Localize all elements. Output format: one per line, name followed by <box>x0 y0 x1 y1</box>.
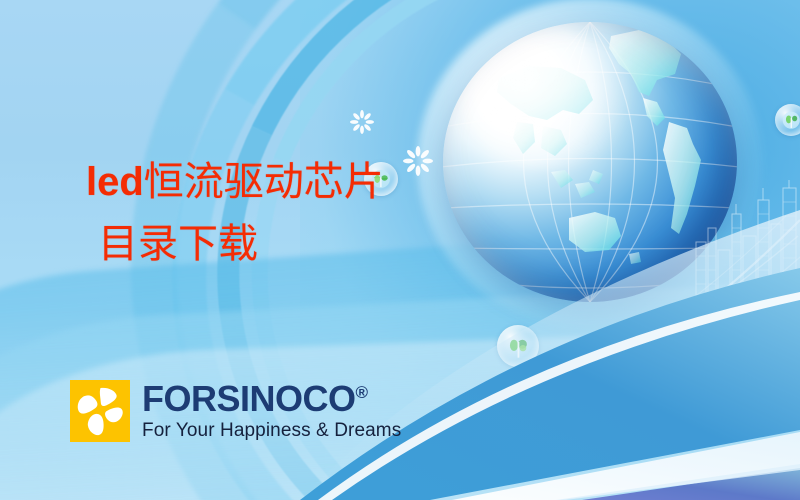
slide-canvas: led恒流驱动芯片 目录下载 FORSINOCO® For Your Happi… <box>0 0 800 500</box>
registered-trademark-icon: ® <box>356 383 368 402</box>
pinwheel-flower-icon <box>70 380 130 442</box>
logo-tagline: For Your Happiness & Dreams <box>142 420 401 442</box>
slide-headline: led恒流驱动芯片 目录下载 <box>86 162 506 264</box>
logo-wordmark-text: FORSINOCO <box>142 378 356 419</box>
headline-latin-text: led <box>86 160 144 204</box>
headline-line-1: led恒流驱动芯片 <box>86 162 506 202</box>
brand-logo[interactable]: FORSINOCO® For Your Happiness & Dreams <box>70 380 401 442</box>
headline-line-2: 目录下载 <box>98 224 506 264</box>
logo-text-block: FORSINOCO® For Your Happiness & Dreams <box>142 381 401 442</box>
logo-wordmark: FORSINOCO® <box>142 381 401 417</box>
pinwheel-petals-glyph <box>70 380 130 442</box>
headline-cjk-text: 恒流驱动芯片 <box>144 159 384 204</box>
